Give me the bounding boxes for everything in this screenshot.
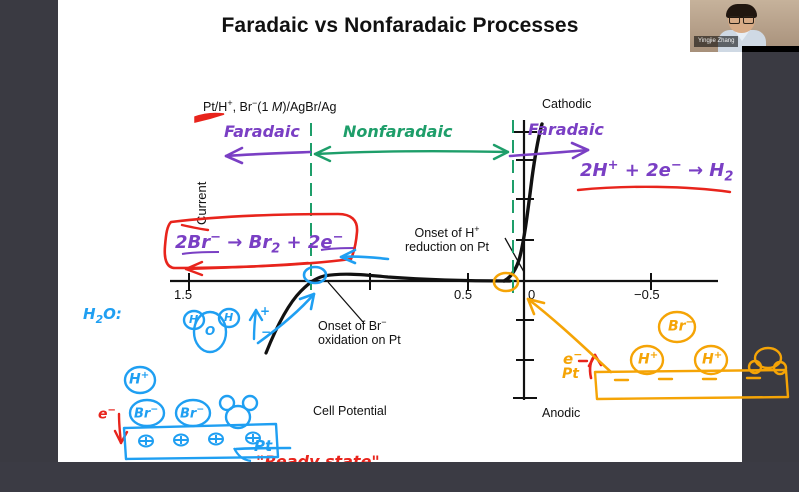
orange-ink-layer [58,0,742,462]
bottom-toolbar [0,462,799,492]
ink-right-electrode-label: Pt [562,366,579,382]
ink-right-hplus-1: H+ [638,350,658,368]
presentation-slide: Faradaic vs Nonfaradaic Processes [58,0,742,462]
video-black-strip [742,46,799,52]
ink-right-electron-label: e− [563,348,582,368]
voltammogram-diagram: Pt/H+, Br−(1 M)/AgBr/Ag Current Cell Pot… [58,0,742,462]
right-letterbox [742,0,799,462]
screen-capture: Faradaic vs Nonfaradaic Processes [0,0,799,492]
ink-right-hplus-2: H+ [702,350,722,368]
participant-name-label: Yingjie Zhang [694,36,738,47]
left-letterbox [0,0,58,462]
ink-right-bromide: Br− [668,317,694,335]
glasses-icon [729,16,754,22]
participant-video-tile[interactable]: Yingjie Zhang [690,0,799,52]
